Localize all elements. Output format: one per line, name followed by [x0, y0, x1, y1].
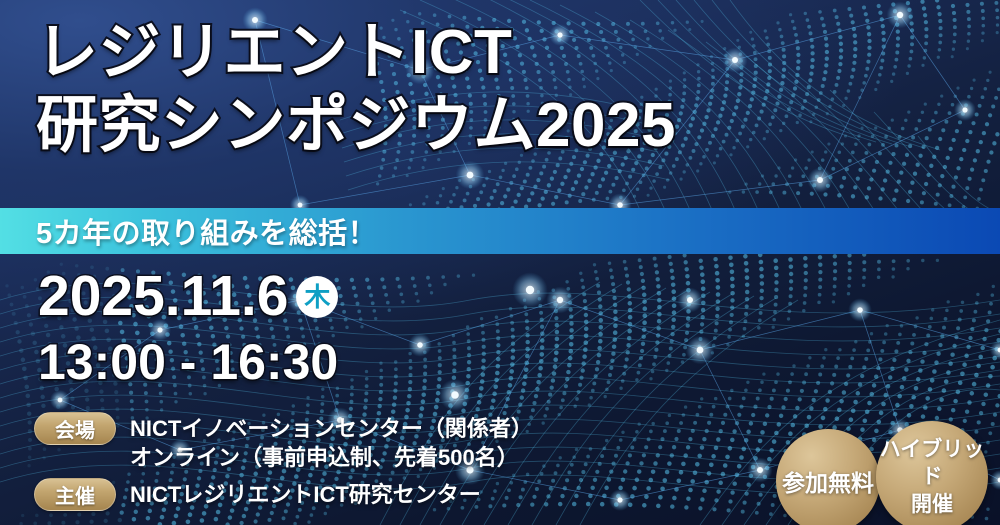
event-date-value: 2025.11.6	[38, 268, 288, 325]
event-info-block: 会場 NICTイノベーションセンター（関係者） オンライン（事前申込制、先着50…	[34, 412, 533, 517]
event-banner: レジリエントICT 研究シンポジウム2025 5カ年の取り組みを総括！ 2025…	[0, 0, 1000, 525]
title-line-2: 研究シンポジウム2025	[36, 89, 676, 162]
event-time: 13:00 - 16:30	[38, 337, 338, 387]
info-row-organizer: 主催 NICTレジリエントICT研究センター	[34, 478, 533, 511]
venue-line-2: オンライン（事前申込制、先着500名）	[130, 443, 533, 472]
badge-group: 参加無料 ハイブリッド 開催	[776, 421, 988, 525]
badge-hybrid-line-1: ハイブリッド	[876, 436, 988, 491]
organizer-value: NICTレジリエントICT研究センター	[130, 478, 481, 509]
badge-hybrid-format: ハイブリッド 開催	[876, 421, 988, 525]
info-row-venue: 会場 NICTイノベーションセンター（関係者） オンライン（事前申込制、先着50…	[34, 412, 533, 472]
banner-title: レジリエントICT 研究シンポジウム2025	[36, 16, 676, 162]
venue-label-pill: 会場	[34, 412, 116, 445]
venue-line-1: NICTイノベーションセンター（関係者）	[130, 414, 533, 443]
organizer-label-pill: 主催	[34, 478, 116, 511]
event-date: 2025.11.6 木	[38, 268, 338, 325]
title-line-1: レジリエントICT	[36, 16, 676, 89]
subtitle-band: 5カ年の取り組みを総括！	[0, 208, 1000, 254]
date-time-block: 2025.11.6 木 13:00 - 16:30	[38, 268, 338, 387]
venue-value: NICTイノベーションセンター（関係者） オンライン（事前申込制、先着500名）	[130, 412, 533, 472]
badge-hybrid-line-2: 開催	[911, 491, 953, 518]
day-of-week-badge: 木	[296, 276, 338, 318]
organizer-line-1: NICTレジリエントICT研究センター	[130, 480, 481, 509]
subtitle-text: 5カ年の取り組みを総括！	[36, 210, 377, 252]
badge-free-admission: 参加無料	[776, 429, 880, 525]
